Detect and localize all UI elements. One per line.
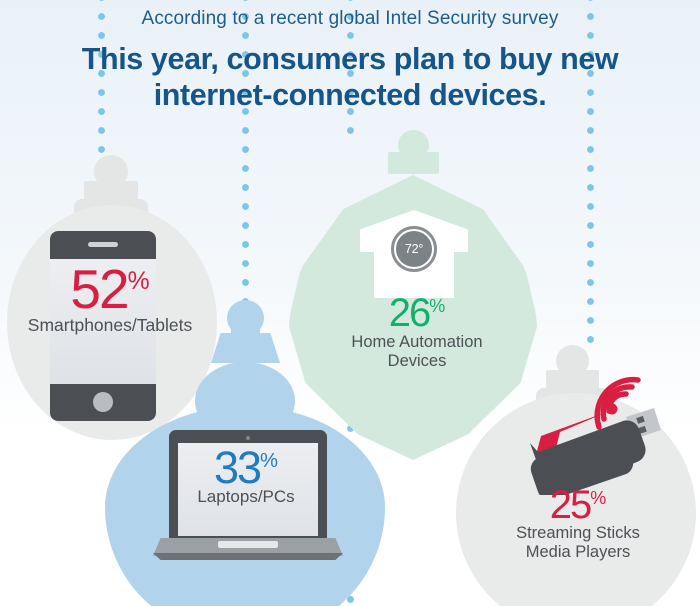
kicker-text: According to a recent global Intel Secur… (0, 8, 700, 30)
laptop-trackpad-icon (218, 541, 278, 548)
ornament-cap-flare-icon (211, 333, 280, 363)
stat-label-line-1: Streaming Sticks (516, 524, 640, 542)
stat-value-home-automation: 26% (308, 293, 526, 333)
stat-number-streaming-sticks: 25 (550, 483, 591, 527)
laptop-base-shadow (153, 553, 343, 560)
stat-laptops: 33% Laptops/PCs (126, 445, 366, 507)
house-thermostat-icon: 72° (360, 210, 468, 298)
stat-value-laptops: 33% (126, 445, 366, 490)
header: According to a recent global Intel Secur… (0, 0, 700, 114)
percent-symbol: % (590, 488, 606, 508)
stat-streaming-sticks: 25% Streaming Sticks Media Players (468, 485, 688, 563)
headline-line-1: This year, consumers plan to buy new (82, 42, 618, 76)
stat-number-home-automation: 26 (389, 291, 430, 335)
stat-label-home-automation: Home Automation Devices (308, 333, 526, 372)
stat-label-streaming-sticks: Streaming Sticks Media Players (468, 524, 688, 563)
stat-smartphones: 52% Smartphones/Tablets (0, 262, 222, 336)
page-title: This year, consumers plan to buy new int… (0, 42, 700, 114)
usb-streaming-stick-icon (508, 370, 668, 495)
stat-number-laptops: 33 (214, 442, 260, 493)
stat-label-laptops: Laptops/PCs (126, 487, 366, 507)
headline-line-2: internet-connected devices. (0, 78, 700, 114)
wifi-origin-dot (607, 404, 618, 415)
percent-symbol: % (260, 450, 278, 472)
infographic-canvas: According to a recent global Intel Secur… (0, 0, 700, 606)
laptop-webcam-icon (246, 436, 250, 440)
stat-label-smartphones: Smartphones/Tablets (0, 315, 222, 336)
stat-label-line-2: Devices (388, 352, 447, 370)
ornament-cap-collar-icon (388, 152, 439, 174)
stat-label-line-1: Home Automation (351, 333, 482, 351)
stat-value-smartphones: 52% (0, 262, 222, 317)
percent-symbol: % (128, 268, 150, 295)
stat-label-line-2: Media Players (526, 543, 631, 561)
stat-value-streaming-sticks: 25% (468, 485, 688, 525)
percent-symbol: % (429, 296, 445, 316)
usb-stick-svg (508, 370, 668, 495)
stat-home-automation: 26% Home Automation Devices (308, 293, 526, 372)
ornament-streaming-sticks[interactable] (452, 345, 700, 606)
thermostat-temperature: 72° (405, 242, 423, 256)
stat-number-smartphones: 52 (70, 258, 127, 320)
smartphone-speaker-icon (88, 242, 118, 247)
thermostat-dial-icon: 72° (396, 231, 432, 267)
